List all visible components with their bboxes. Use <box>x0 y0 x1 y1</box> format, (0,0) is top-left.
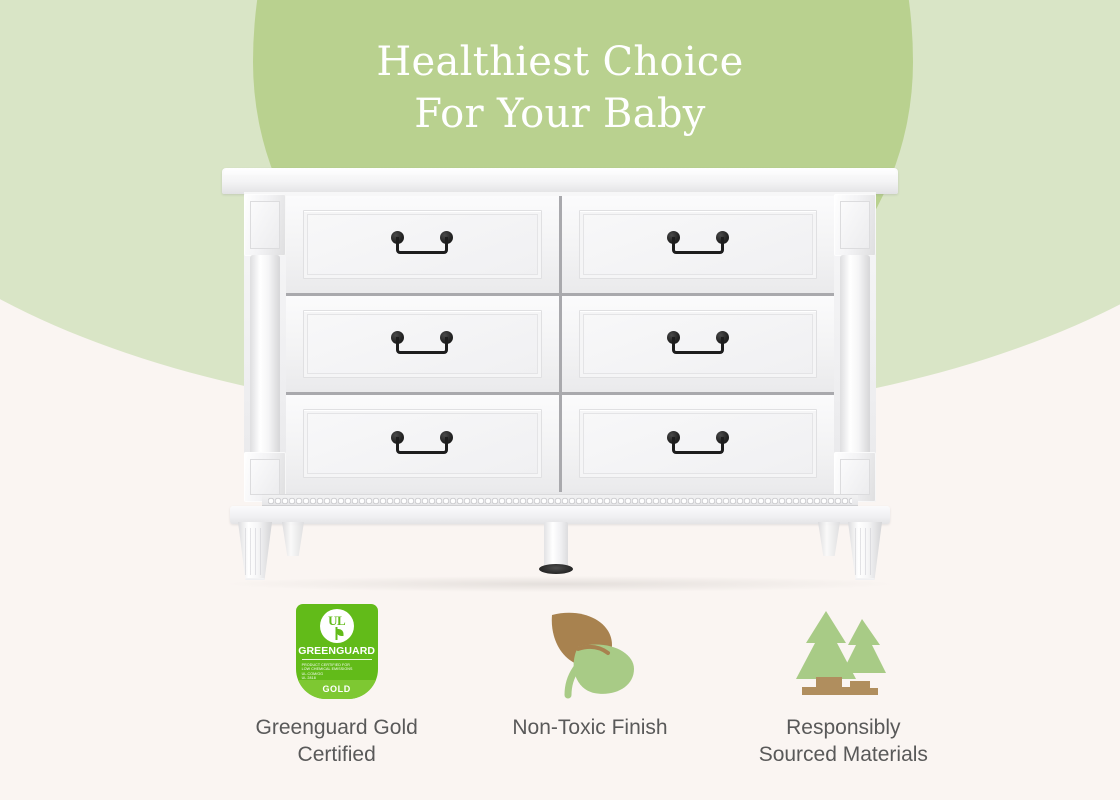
dresser-pilaster-capital-left <box>244 194 286 256</box>
beaded-molding-texture <box>268 497 852 505</box>
dresser-column-right <box>840 255 870 483</box>
pull-bail-icon <box>396 337 448 354</box>
dresser-top-slab <box>222 168 898 194</box>
feature-greenguard-gold-certified: UL GREENGUARD PRODUCT CERTIFIED FOR LOW … <box>210 600 463 785</box>
dresser-column-left <box>250 255 280 483</box>
greenguard-level-label: GOLD <box>322 684 350 694</box>
dresser-beaded-molding <box>262 494 858 506</box>
drawer-bottom-right[interactable] <box>562 395 835 492</box>
dresser-drawer-grid <box>286 196 834 492</box>
feature-caption-line-1: Greenguard Gold <box>256 714 418 741</box>
feature-row: UL GREENGUARD PRODUCT CERTIFIED FOR LOW … <box>210 600 970 785</box>
drawer-top-right[interactable] <box>562 196 835 293</box>
greenguard-level-band: GOLD <box>296 680 378 699</box>
ul-mark-icon: UL <box>320 609 354 643</box>
greenguard-fine-print: PRODUCT CERTIFIED FOR LOW CHEMICAL EMISS… <box>302 663 372 681</box>
feature-caption-line-1: Responsibly <box>759 714 928 741</box>
dresser-back-leg-right <box>818 522 840 556</box>
headline-line-1: Healthiest Choice <box>0 36 1120 88</box>
feature-caption: Responsibly Sourced Materials <box>759 714 928 768</box>
drawer-middle-left[interactable] <box>286 296 559 393</box>
dresser-leg-front-left <box>238 522 272 580</box>
feature-icon-container <box>788 600 898 702</box>
feature-caption: Greenguard Gold Certified <box>256 714 418 768</box>
drawer-pull-handle[interactable] <box>391 431 453 457</box>
pull-bail-icon <box>672 237 724 254</box>
drawer-pull-handle[interactable] <box>667 331 729 357</box>
dresser-center-support-leg <box>544 522 568 568</box>
tree-small-shape <box>842 619 886 673</box>
drawer-pull-handle[interactable] <box>391 231 453 257</box>
center-leg-glide <box>539 564 573 574</box>
feature-non-toxic-finish: Non-Toxic Finish <box>463 600 716 785</box>
drawer-pull-handle[interactable] <box>667 431 729 457</box>
pine-trees-icon <box>788 603 898 699</box>
feature-responsibly-sourced-materials: Responsibly Sourced Materials <box>717 600 970 785</box>
headline-line-2: For Your Baby <box>0 88 1120 140</box>
dresser-pilaster-capital-right <box>834 194 876 256</box>
drawer-bottom-left[interactable] <box>286 395 559 492</box>
greenguard-divider <box>302 659 372 660</box>
sprout-blade <box>336 629 343 636</box>
pull-bail-icon <box>396 437 448 454</box>
feature-caption-line-2: Certified <box>256 741 418 768</box>
dresser-leg-front-right <box>848 522 882 580</box>
leaf-sprout-icon <box>331 627 342 640</box>
drawer-pull-handle[interactable] <box>391 331 453 357</box>
feature-caption-line-2: Sourced Materials <box>759 741 928 768</box>
feature-icon-container: UL GREENGUARD PRODUCT CERTIFIED FOR LOW … <box>296 600 378 702</box>
greenguard-gold-badge-icon: UL GREENGUARD PRODUCT CERTIFIED FOR LOW … <box>296 604 378 699</box>
log-base-right <box>844 688 878 695</box>
pull-bail-icon <box>672 437 724 454</box>
feature-caption: Non-Toxic Finish <box>512 714 667 741</box>
marketing-banner: Healthiest Choice For Your Baby <box>0 0 1120 800</box>
feature-icon-container <box>538 600 642 702</box>
product-image-dresser <box>222 160 898 585</box>
page-headline: Healthiest Choice For Your Baby <box>0 36 1120 140</box>
pull-bail-icon <box>396 237 448 254</box>
greenguard-brand-label: GREENGUARD <box>298 645 375 657</box>
two-leaves-icon <box>538 603 642 699</box>
drawer-top-left[interactable] <box>286 196 559 293</box>
drawer-pull-handle[interactable] <box>667 231 729 257</box>
feature-caption-line-1: Non-Toxic Finish <box>512 714 667 741</box>
tree-large-shape <box>796 611 856 679</box>
pull-bail-icon <box>672 337 724 354</box>
dresser-back-leg-left <box>282 522 304 556</box>
drawer-middle-right[interactable] <box>562 296 835 393</box>
